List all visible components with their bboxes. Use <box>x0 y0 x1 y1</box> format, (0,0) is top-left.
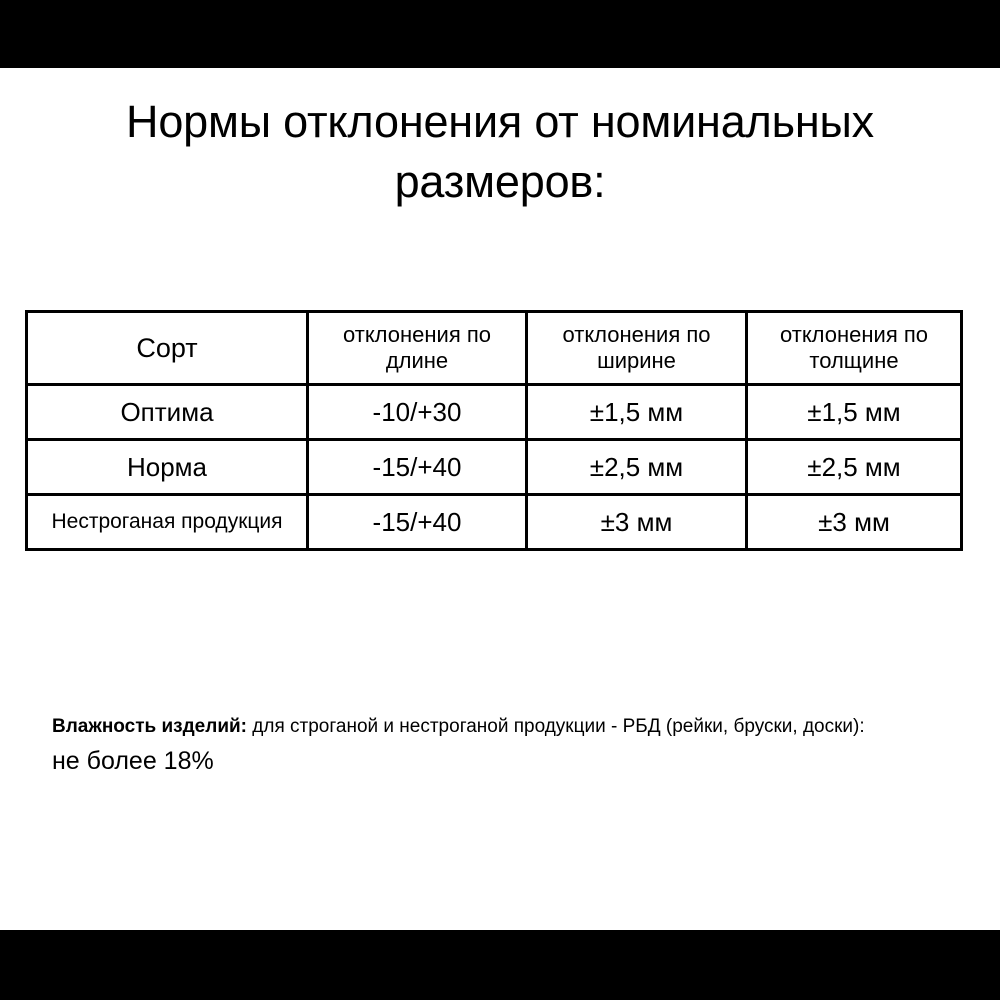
cell-sort: Нестроганая продукция <box>27 495 308 550</box>
table-header-row: Сорт отклонения по длине отклонения по ш… <box>27 312 962 385</box>
deviation-norms-table: Сорт отклонения по длине отклонения по ш… <box>25 310 963 551</box>
cell-thickness-deviation: ±1,5 мм <box>747 385 962 440</box>
column-header-sort: Сорт <box>27 312 308 385</box>
cell-width-deviation: ±3 мм <box>527 495 747 550</box>
moisture-note-text: для строганой и нестроганой продукции - … <box>247 716 865 737</box>
cell-length-deviation: -10/+30 <box>308 385 527 440</box>
table-row: Норма -15/+40 ±2,5 мм ±2,5 мм <box>27 440 962 495</box>
cell-length-deviation: -15/+40 <box>308 495 527 550</box>
column-header-length-deviation: отклонения по длине <box>308 312 527 385</box>
cell-width-deviation: ±1,5 мм <box>527 385 747 440</box>
moisture-note-label: Влажность изделий: <box>52 716 247 737</box>
page-title: Нормы отклонения от номинальных размеров… <box>60 92 940 212</box>
cell-sort: Норма <box>27 440 308 495</box>
table-row: Оптима -10/+30 ±1,5 мм ±1,5 мм <box>27 385 962 440</box>
moisture-note-line-2: не более 18% <box>52 744 952 778</box>
letterbox-top <box>0 0 1000 68</box>
cell-thickness-deviation: ±3 мм <box>747 495 962 550</box>
column-header-thickness-deviation: отклонения по толщине <box>747 312 962 385</box>
moisture-note-line-1: Влажность изделий: для строганой и нестр… <box>52 712 952 742</box>
letterbox-bottom <box>0 930 1000 1000</box>
table-row: Нестроганая продукция -15/+40 ±3 мм ±3 м… <box>27 495 962 550</box>
cell-thickness-deviation: ±2,5 мм <box>747 440 962 495</box>
cell-sort: Оптима <box>27 385 308 440</box>
moisture-note: Влажность изделий: для строганой и нестр… <box>52 712 952 778</box>
cell-length-deviation: -15/+40 <box>308 440 527 495</box>
page-root: Нормы отклонения от номинальных размеров… <box>0 0 1000 1000</box>
column-header-width-deviation: отклонения по ширине <box>527 312 747 385</box>
cell-width-deviation: ±2,5 мм <box>527 440 747 495</box>
